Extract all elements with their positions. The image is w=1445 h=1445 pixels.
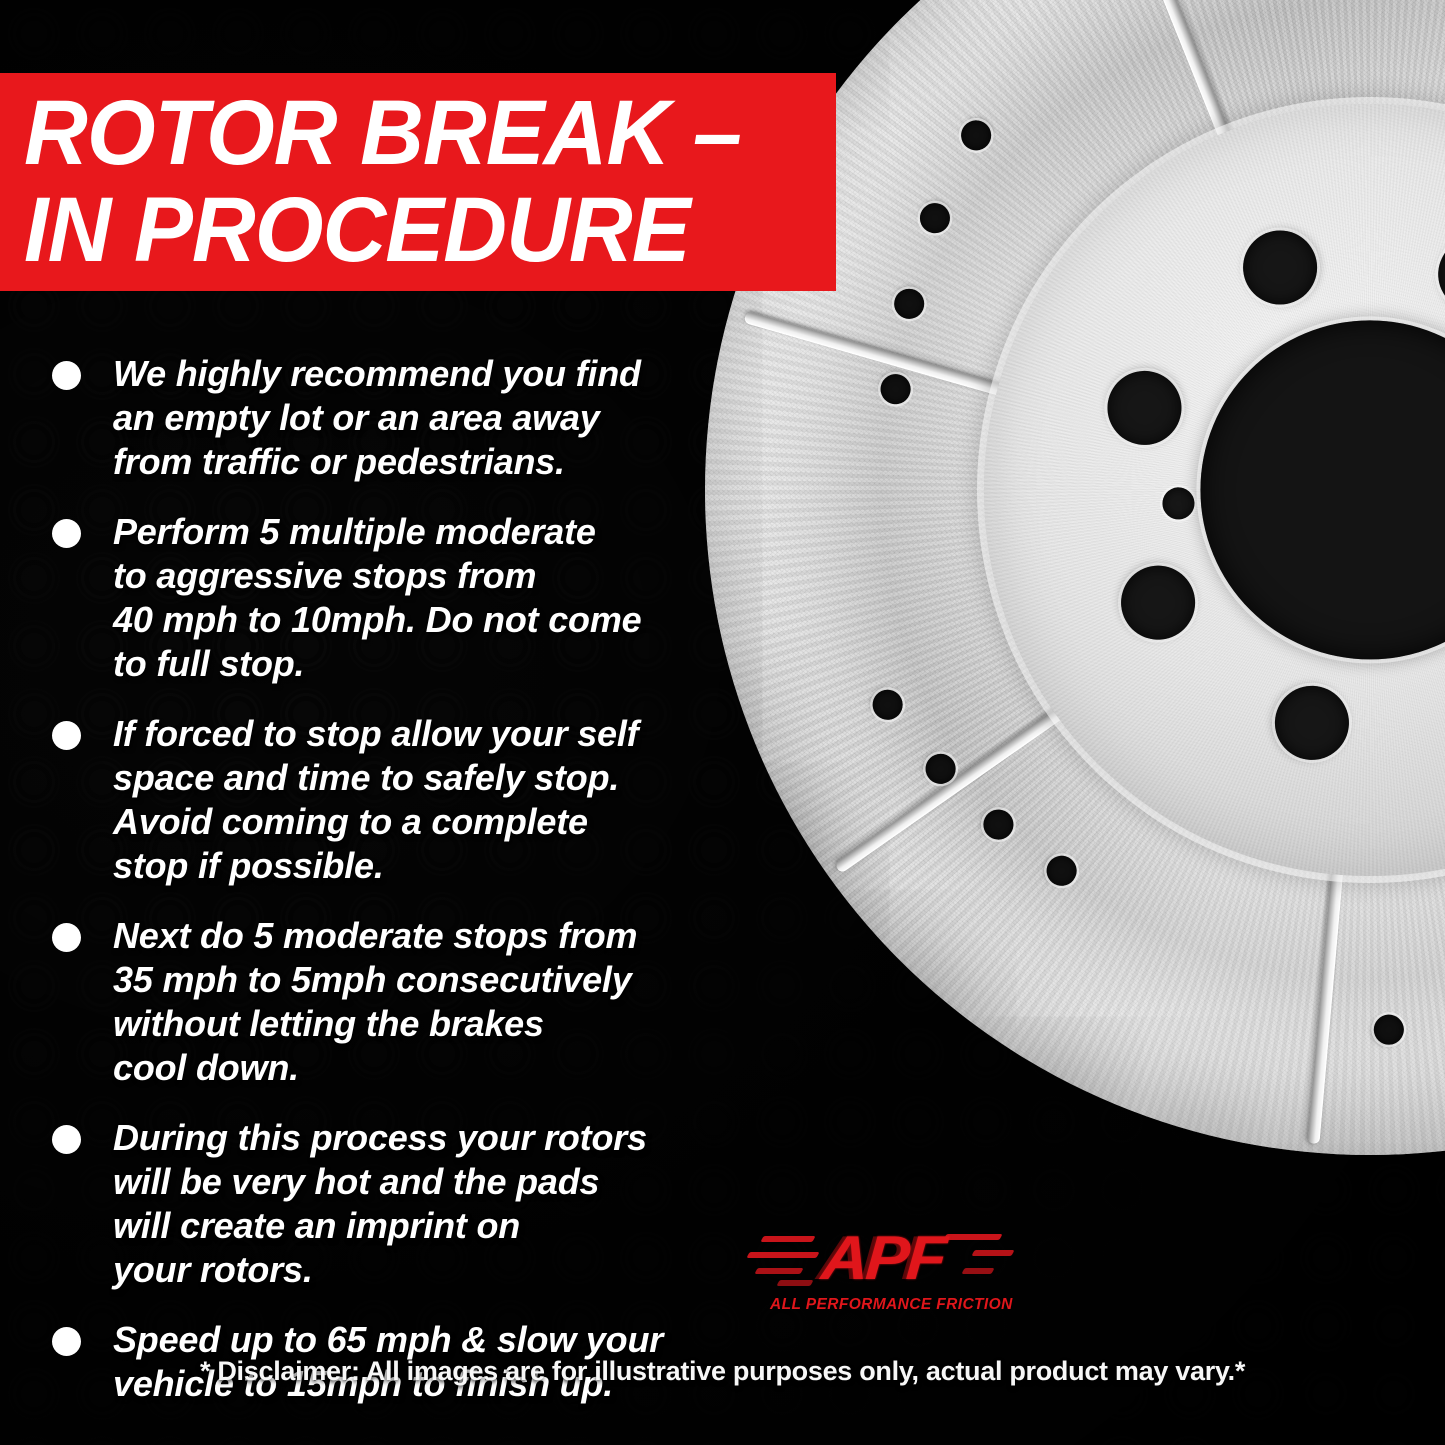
bullet-dot-icon — [52, 361, 81, 390]
list-item: If forced to stop allow your self space … — [52, 712, 792, 888]
speed-streak-icon — [943, 1234, 1002, 1240]
list-item-text: Next do 5 moderate stops from 35 mph to … — [113, 914, 637, 1090]
list-item: Next do 5 moderate stops from 35 mph to … — [52, 914, 792, 1090]
page-title-line-1: ROTOR BREAK – — [24, 85, 804, 182]
bullet-dot-icon — [52, 1327, 81, 1356]
apf-logo-text: APF — [819, 1228, 945, 1290]
rotor-break-in-poster: ROTOR BREAK – IN PROCEDURE We highly rec… — [0, 0, 1445, 1445]
speed-streak-icon — [754, 1268, 803, 1274]
speed-streak-icon — [776, 1280, 813, 1286]
list-item-text: If forced to stop allow your self space … — [113, 712, 638, 888]
apf-logo: APF ALL PERFORMANCE FRICTION — [770, 1228, 995, 1328]
list-item: We highly recommend you find an empty lo… — [52, 352, 792, 484]
list-item-text: During this process your rotors will be … — [113, 1116, 647, 1292]
bullet-dot-icon — [52, 721, 81, 750]
apf-logo-mark: APF — [770, 1228, 995, 1290]
speed-streak-icon — [746, 1252, 819, 1258]
speed-streak-icon — [971, 1250, 1014, 1256]
speed-streak-icon — [760, 1236, 815, 1242]
disclaimer-text: * Disclaimer: All images are for illustr… — [0, 1356, 1445, 1387]
list-item: Perform 5 multiple moderate to aggressiv… — [52, 510, 792, 686]
apf-logo-tagline: ALL PERFORMANCE FRICTION — [770, 1296, 995, 1314]
list-item-text: Perform 5 multiple moderate to aggressiv… — [113, 510, 641, 686]
bullet-dot-icon — [52, 519, 81, 548]
page-title-line-2: IN PROCEDURE — [24, 182, 804, 279]
bullet-dot-icon — [52, 923, 81, 952]
speed-streak-icon — [961, 1268, 994, 1274]
list-item: During this process your rotors will be … — [52, 1116, 792, 1292]
list-item-text: We highly recommend you find an empty lo… — [113, 352, 641, 484]
title-banner: ROTOR BREAK – IN PROCEDURE — [0, 73, 836, 291]
procedure-steps-list: We highly recommend you find an empty lo… — [52, 352, 792, 1432]
bullet-dot-icon — [52, 1125, 81, 1154]
